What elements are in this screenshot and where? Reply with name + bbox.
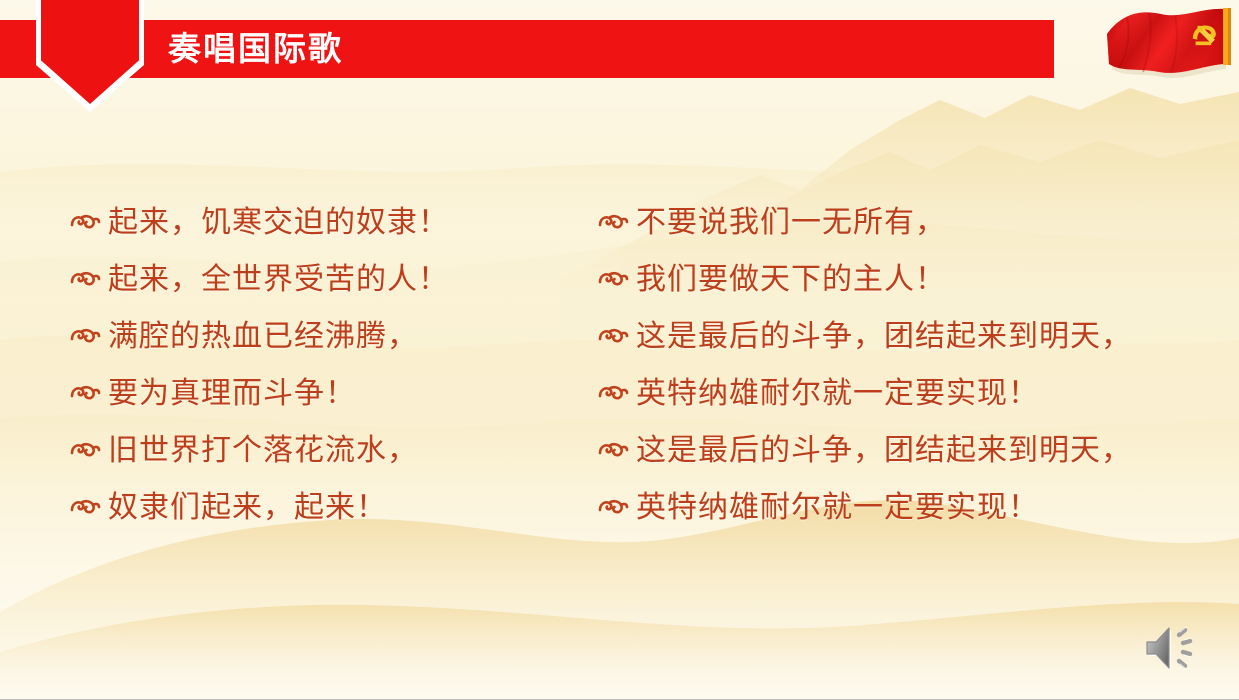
lyric-line: 旧世界打个落花流水， (68, 418, 588, 475)
swirl-ornament-icon (68, 266, 102, 290)
cpc-party-flag-icon (1097, 2, 1233, 86)
lyric-line: 要为真理而斗争！ (68, 361, 588, 418)
swirl-ornament-icon (68, 437, 102, 461)
speaker-audio-icon[interactable] (1143, 619, 1205, 675)
lyric-line: 这是最后的斗争，团结起来到明天， (596, 418, 1206, 475)
swirl-ornament-icon (596, 209, 630, 233)
lyric-text: 英特纳雄耐尔就一定要实现！ (636, 368, 1039, 412)
lyric-text: 起来，饥寒交迫的奴隶！ (108, 197, 449, 241)
lyric-line: 英特纳雄耐尔就一定要实现！ (596, 475, 1206, 532)
swirl-ornament-icon (596, 266, 630, 290)
presentation-slide: 奏唱国际歌 (0, 0, 1239, 700)
swirl-ornament-icon (596, 323, 630, 347)
lyric-line: 满腔的热血已经沸腾， (68, 304, 588, 361)
page-title: 奏唱国际歌 (168, 22, 343, 76)
lyric-text: 英特纳雄耐尔就一定要实现！ (636, 482, 1039, 526)
lyric-text: 这是最后的斗争，团结起来到明天， (636, 311, 1132, 355)
swirl-ornament-icon (596, 494, 630, 518)
lyric-text: 我们要做天下的主人！ (636, 254, 946, 298)
lyrics-body: 起来，饥寒交迫的奴隶！ 起来，全世界受苦的人！ 满腔的热血已经沸腾， (0, 0, 1239, 700)
swirl-ornament-icon (596, 380, 630, 404)
lyric-line: 起来，全世界受苦的人！ (68, 247, 588, 304)
swirl-ornament-icon (68, 323, 102, 347)
lyrics-left-column: 起来，饥寒交迫的奴隶！ 起来，全世界受苦的人！ 满腔的热血已经沸腾， (68, 190, 588, 532)
lyric-text: 满腔的热血已经沸腾， (108, 311, 418, 355)
lyric-line: 英特纳雄耐尔就一定要实现！ (596, 361, 1206, 418)
lyric-text: 这是最后的斗争，团结起来到明天， (636, 425, 1132, 469)
swirl-ornament-icon (68, 494, 102, 518)
swirl-ornament-icon (68, 209, 102, 233)
lyric-line: 奴隶们起来，起来！ (68, 475, 588, 532)
lyric-text: 要为真理而斗争！ (108, 368, 356, 412)
lyric-text: 不要说我们一无所有， (636, 197, 946, 241)
swirl-ornament-icon (68, 380, 102, 404)
lyric-text: 奴隶们起来，起来！ (108, 482, 387, 526)
swirl-ornament-icon (596, 437, 630, 461)
lyric-text: 旧世界打个落花流水， (108, 425, 418, 469)
lyric-line: 我们要做天下的主人！ (596, 247, 1206, 304)
lyric-line: 不要说我们一无所有， (596, 190, 1206, 247)
lyric-text: 起来，全世界受苦的人！ (108, 254, 449, 298)
header-banner (0, 20, 1054, 78)
lyrics-right-column: 不要说我们一无所有， 我们要做天下的主人！ 这是最后的斗争，团结起来到明天， (596, 190, 1206, 532)
lyric-line: 这是最后的斗争，团结起来到明天， (596, 304, 1206, 361)
lyric-line: 起来，饥寒交迫的奴隶！ (68, 190, 588, 247)
